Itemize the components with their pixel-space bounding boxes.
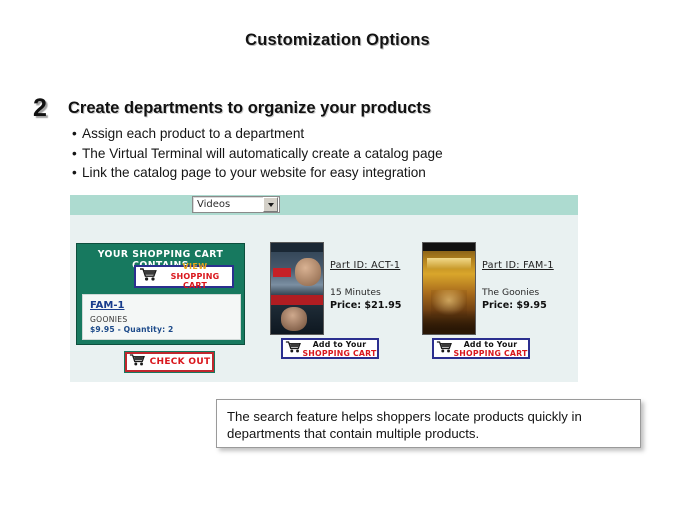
product-price: Price: $21.95 [330,300,401,311]
chevron-down-icon[interactable] [263,197,278,212]
callout-box: The search feature helps shoppers locate… [216,399,641,448]
cart-line-item: FAM-1 GOONIES $9.95 - Quantity: 2 [82,294,241,340]
view-cart-line1: VIEW [158,262,232,272]
poster-art-goonies [423,243,475,334]
product-name: 15 Minutes [330,287,401,298]
shopping-cart-icon [139,267,158,286]
department-select[interactable]: Videos [192,196,280,213]
shopping-cart-icon [436,340,453,358]
product-part-id: Part ID: ACT-1 [330,260,401,271]
add-to-cart-button[interactable]: Add to Your SHOPPING CART [281,338,379,359]
cart-item-name: GOONIES [90,315,127,324]
slide-root: Customization Options 2 Create departmen… [0,0,675,505]
product-details: Part ID: FAM-1 The Goonies Price: $9.95 [482,260,554,311]
view-shopping-cart-label: VIEW SHOPPING CART [158,262,232,291]
product-cover-image[interactable] [422,242,476,335]
add-to-cart-button[interactable]: Add to Your SHOPPING CART [432,338,530,359]
callout-line-1: The search feature helps shoppers locate… [227,408,630,425]
page-title: Customization Options [0,31,675,50]
add-cart-line1: Add to Your [302,340,377,349]
step-heading: Create departments to organize your prod… [68,100,431,117]
list-item: •The Virtual Terminal will automatically… [72,144,542,164]
add-cart-line2: SHOPPING CART [453,349,528,358]
product-cover-image[interactable] [270,242,324,335]
bullet-dot-icon: • [72,124,82,144]
catalog-header-bar [70,195,578,215]
add-to-cart-label: Add to Your SHOPPING CART [302,340,377,358]
product-part-id: Part ID: FAM-1 [482,260,554,271]
product-name: The Goonies [482,287,554,298]
bullet-text: Assign each product to a department [82,126,304,141]
check-out-label: CHECK OUT [150,357,211,367]
bullet-dot-icon: • [72,163,82,183]
shopping-cart-panel: YOUR SHOPPING CART CONTAINS VIEW SHOPPIN… [76,243,245,345]
list-item: •Link the catalog page to your website f… [72,163,542,183]
check-out-button[interactable]: CHECK OUT [125,352,214,372]
product-card: Part ID: ACT-1 15 Minutes Price: $21.95 [270,242,400,337]
bullet-list: •Assign each product to a department •Th… [72,124,542,183]
cart-item-sku-link[interactable]: FAM-1 [90,300,124,311]
product-price: Price: $9.95 [482,300,554,311]
product-card: Part ID: FAM-1 The Goonies Price: $9.95 [422,242,562,337]
add-cart-line1: Add to Your [453,340,528,349]
product-details: Part ID: ACT-1 15 Minutes Price: $21.95 [330,260,401,311]
cart-item-price-quantity: $9.95 - Quantity: 2 [90,325,173,334]
add-cart-line2: SHOPPING CART [302,349,377,358]
list-item: •Assign each product to a department [72,124,542,144]
shopping-cart-icon [129,353,146,371]
department-select-value: Videos [193,199,263,210]
bullet-dot-icon: • [72,144,82,164]
step-number: 2 [33,96,47,121]
bullet-text: The Virtual Terminal will automatically … [82,146,443,161]
poster-art-act1 [271,243,323,334]
callout-line-2: departments that contain multiple produc… [227,425,630,442]
bullet-text: Link the catalog page to your website fo… [82,165,426,180]
view-shopping-cart-button[interactable]: VIEW SHOPPING CART [134,265,234,288]
shopping-cart-icon [285,340,302,358]
add-to-cart-label: Add to Your SHOPPING CART [453,340,528,358]
view-cart-line2: SHOPPING CART [158,272,232,291]
